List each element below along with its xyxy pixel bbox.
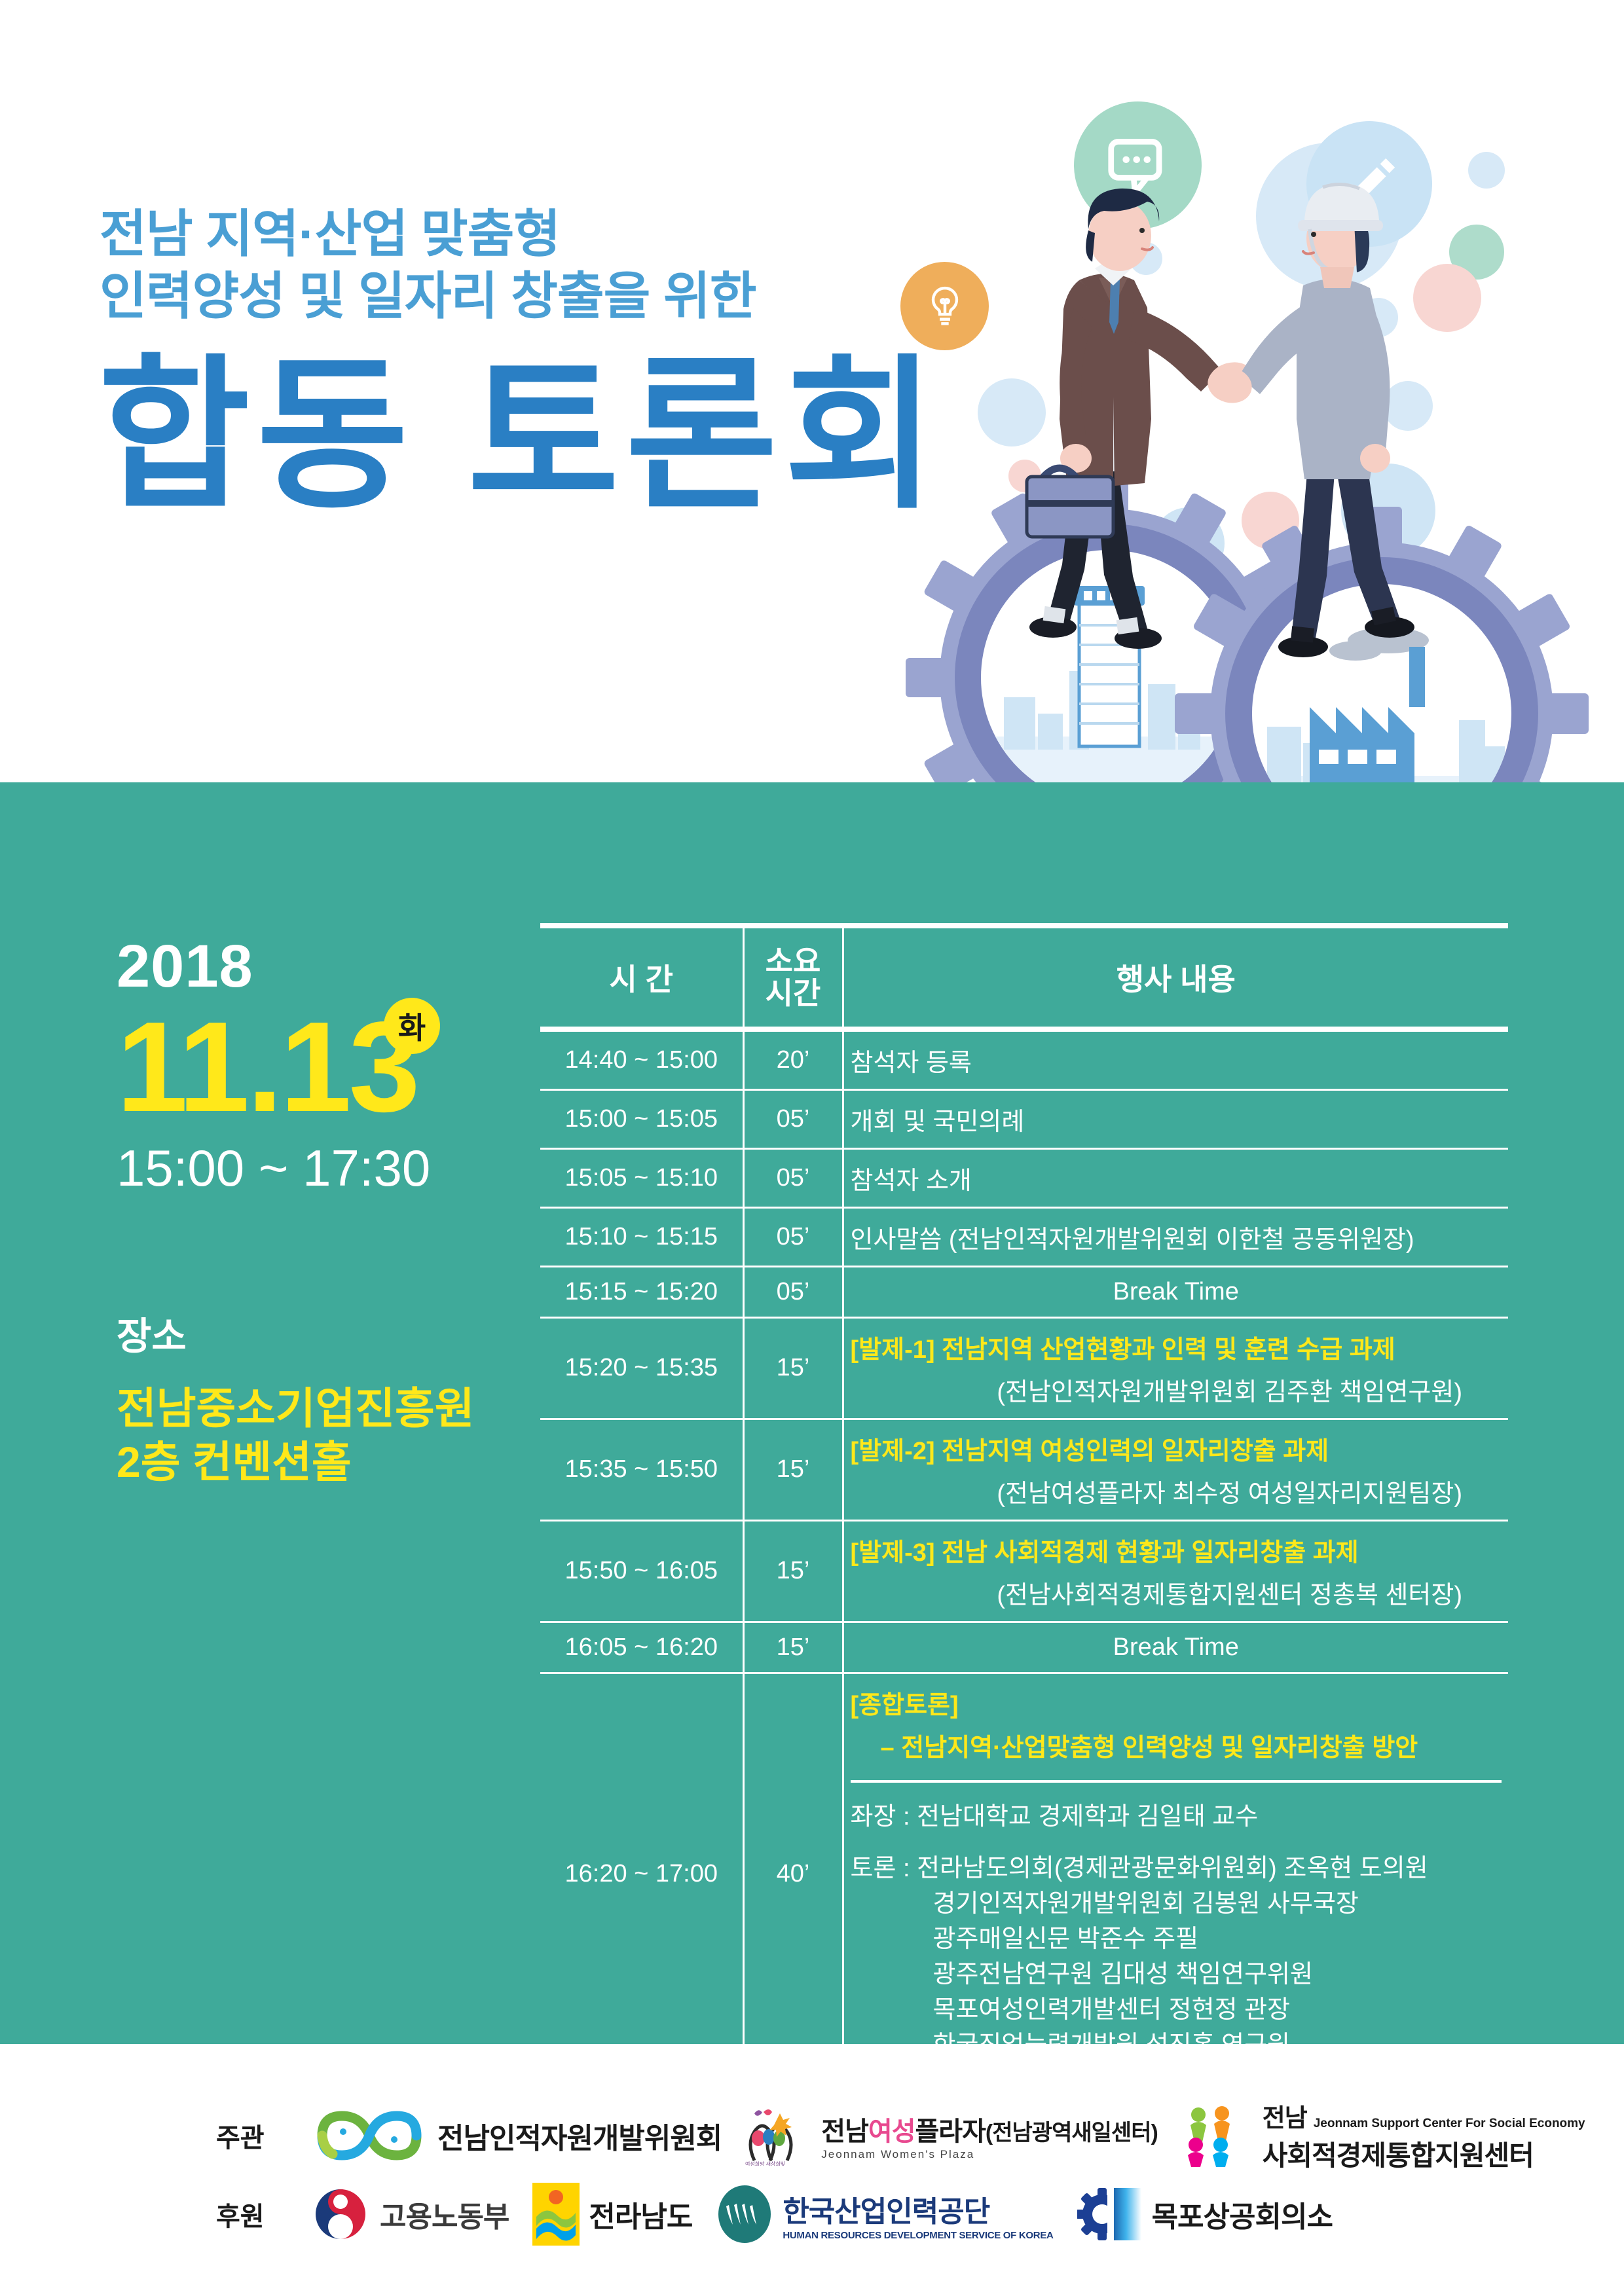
row-time: 15:10 ~ 15:15 xyxy=(540,1207,743,1266)
logo-jeollanamdo: 전라남도 xyxy=(532,2183,692,2246)
gear-logo-icon xyxy=(1077,2184,1143,2244)
panel-heading-sub: – 전남지역·산업맞춤형 인력양성 및 일자리창출 방안 xyxy=(851,1727,1502,1763)
row-content: Break Time xyxy=(843,1622,1508,1673)
logo-mokpo-chamber-of-commerce: 목포상공회의소 xyxy=(1077,2184,1333,2244)
logo-text-stack: 전남 Jeonnam Support Center For Social Eco… xyxy=(1263,2098,1585,2174)
row-time: 15:00 ~ 15:05 xyxy=(540,1089,743,1148)
table-row-presentation: 15:20 ~ 15:35 15’ [발제-1] 전남지역 산업현황과 인력 및… xyxy=(540,1317,1508,1419)
presentation-title: [발제-1] 전남지역 산업현황과 인력 및 훈련 수급 과제 xyxy=(851,1336,1395,1364)
row-time: 15:20 ~ 15:35 xyxy=(540,1317,743,1419)
table-row-presentation: 15:50 ~ 16:05 15’ [발제-3] 전남 사회적경제 현황과 일자… xyxy=(540,1520,1508,1622)
main-content-panel: 2018 11.13 화 15:00 ~ 17:30 장소 전남중소기업진흥원 … xyxy=(0,782,1624,2044)
logo-label-line1: 전남 xyxy=(1263,2098,1307,2134)
row-content: [발제-2] 전남지역 여성인력의 일자리창출 과제 (전남여성플라자 최수정 … xyxy=(843,1419,1508,1520)
footer: 주관 전남인적자원개발위원회 xyxy=(0,2044,1624,2296)
event-time-range: 15:00 ~ 17:30 xyxy=(117,1142,509,1194)
panel-discussant: 경기인적자원개발위원회 김봉원 사무국장 xyxy=(851,1887,1502,1922)
panel-discussants: 토론 : 전라남도의회(경제관광문화위원회) 조옥현 도의원 경기인적자원개발위… xyxy=(851,1851,1502,2064)
table-row-panel: 16:20 ~ 17:00 40’ [종합토론] – 전남지역·산업맞춤형 인력… xyxy=(540,1673,1508,2075)
row-duration: 05’ xyxy=(743,1207,843,1266)
row-content: Break Time xyxy=(843,1266,1508,1317)
row-time: 16:05 ~ 16:20 xyxy=(540,1622,743,1673)
row-content: [발제-3] 전남 사회적경제 현황과 일자리창출 과제 (전남사회적경제통합지… xyxy=(843,1520,1508,1622)
presentation-speaker: (전남인적자원개발위원회 김주환 책임연구원) xyxy=(851,1372,1502,1408)
row-duration: 05’ xyxy=(743,1089,843,1148)
logo-hrdkorea: 한국산업인력공단 HUMAN RESOURCES DEVELOPMENT SER… xyxy=(716,2184,1053,2244)
logo-ministry-of-employment-labor: 고용노동부 xyxy=(310,2184,509,2244)
row-duration: 05’ xyxy=(743,1266,843,1317)
col-header-time: 시 간 xyxy=(540,926,743,1029)
event-year: 2018 xyxy=(117,936,509,996)
footer-sponsor-label: 후원 xyxy=(216,2195,287,2233)
row-duration: 15’ xyxy=(743,1317,843,1419)
logo-label-line2: 사회적경제통합지원센터 xyxy=(1263,2134,1585,2174)
logo-label: 목포상공회의소 xyxy=(1152,2193,1333,2235)
schedule-table-body: 14:40 ~ 15:00 20’ 참석자 등록 15:00 ~ 15:05 0… xyxy=(540,1029,1508,2195)
row-content: 개회 및 국민의례 xyxy=(843,1089,1508,1148)
womens-plaza-logo-icon: 여성희망 새상희빛 xyxy=(745,2105,812,2166)
logo-label: 전남여성플라자(전남광역새일센터) xyxy=(821,2110,1158,2148)
presentation-speaker: (전남사회적경제통합지원센터 정총복 센터장) xyxy=(851,1575,1502,1611)
col-header-content: 행사 내용 xyxy=(843,926,1508,1029)
row-duration: 40’ xyxy=(743,1673,843,2075)
panel-heading-block: [종합토론] – 전남지역·산업맞춤형 인력양성 및 일자리창출 방안 xyxy=(851,1685,1502,1783)
row-time: 15:15 ~ 15:20 xyxy=(540,1266,743,1317)
event-info-column: 2018 11.13 화 15:00 ~ 17:30 장소 전남중소기업진흥원 … xyxy=(117,936,509,1489)
taegeuk-logo-icon xyxy=(310,2184,371,2244)
logo-label: 한국산업인력공단 xyxy=(783,2188,1053,2230)
logo-label-en: Jeonnam Support Center For Social Econom… xyxy=(1314,2117,1585,2134)
logo-text-stack: 한국산업인력공단 HUMAN RESOURCES DEVELOPMENT SER… xyxy=(783,2188,1053,2241)
col-header-duration: 소요 시간 xyxy=(743,926,843,1029)
logo-label: 전라남도 xyxy=(589,2193,692,2235)
footer-sponsors-row: 후원 고용노동부 전라남도 xyxy=(216,2183,1333,2246)
table-row-presentation: 15:35 ~ 15:50 15’ [발제-2] 전남지역 여성인력의 일자리창… xyxy=(540,1419,1508,1520)
row-duration: 20’ xyxy=(743,1029,843,1090)
table-row: 15:05 ~ 15:10 05’ 참석자 소개 xyxy=(540,1148,1508,1207)
day-of-week-badge: 화 xyxy=(384,998,440,1054)
row-duration: 15’ xyxy=(743,1419,843,1520)
table-row: 14:40 ~ 15:00 20’ 참석자 등록 xyxy=(540,1029,1508,1090)
panel-discussant: 광주매일신문 박준수 주필 xyxy=(851,1922,1502,1958)
logo-label-en: HUMAN RESOURCES DEVELOPMENT SERVICE OF K… xyxy=(783,2230,1053,2241)
handshake-illustration xyxy=(851,0,1624,782)
row-time: 14:40 ~ 15:00 xyxy=(540,1029,743,1090)
panel-chair: 좌장 : 전남대학교 경제학과 김일태 교수 xyxy=(851,1800,1502,1835)
table-header-row: 시 간 소요 시간 행사 내용 xyxy=(540,926,1508,1029)
row-content: 참석자 등록 xyxy=(843,1029,1508,1090)
schedule-table: 시 간 소요 시간 행사 내용 14:40 ~ 15:00 20’ 참석자 등록… xyxy=(540,923,1508,2197)
row-time: 15:05 ~ 15:10 xyxy=(540,1148,743,1207)
logo-jeonnam-womens-plaza: 여성희망 새상희빛 전남여성플라자(전남광역새일센터) Jeonnam Wome… xyxy=(745,2105,1158,2166)
table-row: 15:15 ~ 15:20 05’ Break Time xyxy=(540,1266,1508,1317)
row-time: 15:35 ~ 15:50 xyxy=(540,1419,743,1520)
venue-label: 장소 xyxy=(117,1318,509,1356)
row-time: 16:20 ~ 17:00 xyxy=(540,1673,743,2075)
svg-text:여성희망 새상희빛: 여성희망 새상희빛 xyxy=(745,2160,785,2166)
row-duration: 05’ xyxy=(743,1148,843,1207)
venue-name: 전남중소기업진흥원 2층 컨벤션홀 xyxy=(117,1382,509,1489)
panel-heading: [종합토론] xyxy=(851,1692,959,1719)
row-duration: 15’ xyxy=(743,1622,843,1673)
row-content: [발제-1] 전남지역 산업현황과 인력 및 훈련 수급 과제 (전남인적자원개… xyxy=(843,1317,1508,1419)
hrdkorea-logo-icon xyxy=(716,2184,773,2244)
panel-discussant: 광주전남연구원 김대성 책임연구위원 xyxy=(851,1958,1502,1993)
poster-subtitle: 전남 지역·산업 맞춤형 인력양성 및 일자리 창출을 위한 xyxy=(100,203,756,327)
event-date: 11.13 xyxy=(117,1003,418,1131)
jeollanamdo-logo-icon xyxy=(532,2183,580,2246)
hero-banner: 전남 지역·산업 맞춤형 인력양성 및 일자리 창출을 위한 합동 토론회 xyxy=(0,0,1624,782)
event-date-row: 11.13 화 xyxy=(117,1003,509,1124)
logo-label: 고용노동부 xyxy=(380,2193,509,2235)
row-content: [종합토론] – 전남지역·산업맞춤형 인력양성 및 일자리창출 방안 좌장 :… xyxy=(843,1673,1508,2075)
table-row: 15:00 ~ 15:05 05’ 개회 및 국민의례 xyxy=(540,1089,1508,1148)
logo-text-stack: 전남여성플라자(전남광역새일센터) Jeonnam Women's Plaza xyxy=(821,2110,1158,2161)
row-time: 15:50 ~ 16:05 xyxy=(540,1520,743,1622)
logo-jeonnam-hrd: 전남인적자원개발위원회 xyxy=(310,2105,722,2166)
table-row: 15:10 ~ 15:15 05’ 인사말씀 (전남인적자원개발위원회 이한철 … xyxy=(540,1207,1508,1266)
row-content: 참석자 소개 xyxy=(843,1148,1508,1207)
schedule-table-wrapper: 시 간 소요 시간 행사 내용 14:40 ~ 15:00 20’ 참석자 등록… xyxy=(540,923,1508,2197)
people-logo-icon xyxy=(1181,2104,1253,2167)
poster-main-title: 합동 토론회 xyxy=(98,354,942,519)
footer-hosts-row: 주관 전남인적자원개발위원회 xyxy=(216,2098,1585,2174)
infinity-logo-icon xyxy=(310,2105,428,2166)
presentation-title: [발제-3] 전남 사회적경제 현황과 일자리창출 과제 xyxy=(851,1539,1359,1567)
row-duration: 15’ xyxy=(743,1520,843,1622)
panel-discussant-lead: 토론 : 전라남도의회(경제관광문화위원회) 조옥현 도의원 xyxy=(851,1855,1428,1882)
footer-host-label: 주관 xyxy=(216,2117,287,2155)
schedule-table-head: 시 간 소요 시간 행사 내용 xyxy=(540,926,1508,1029)
row-content: 인사말씀 (전남인적자원개발위원회 이한철 공동위원장) xyxy=(843,1207,1508,1266)
panel-discussant: 목포여성인력개발센터 정현정 관장 xyxy=(851,1993,1502,2028)
presentation-speaker: (전남여성플라자 최수정 여성일자리지원팀장) xyxy=(851,1473,1502,1509)
presentation-title: [발제-2] 전남지역 여성인력의 일자리창출 과제 xyxy=(851,1438,1329,1465)
logo-label: 전남인적자원개발위원회 xyxy=(437,2115,722,2157)
logo-social-economy-center: 전남 Jeonnam Support Center For Social Eco… xyxy=(1181,2098,1585,2174)
table-row: 16:05 ~ 16:20 15’ Break Time xyxy=(540,1622,1508,1673)
logo-label-en: Jeonnam Women's Plaza xyxy=(821,2148,1158,2161)
